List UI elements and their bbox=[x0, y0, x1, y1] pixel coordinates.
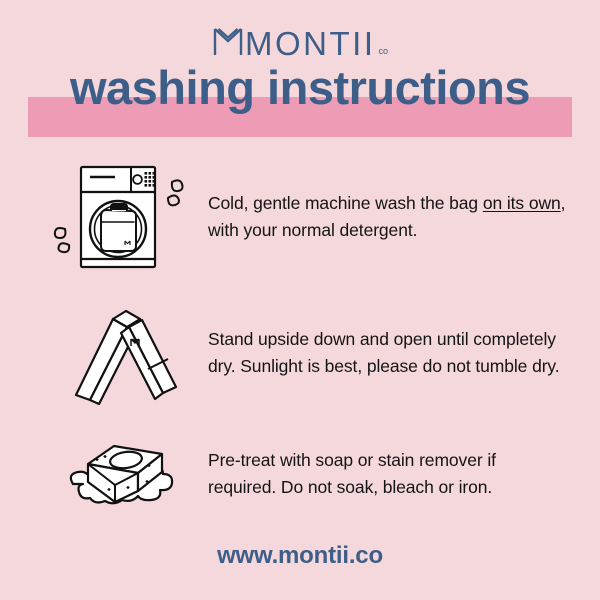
instruction-text-part: Stand upside down and open until complet… bbox=[208, 329, 560, 376]
upside-down-open-bag-icon bbox=[43, 297, 193, 409]
instruction-icon-cell bbox=[28, 297, 208, 409]
instruction-row: Pre-treat with soap or stain remover if … bbox=[28, 424, 572, 524]
brand-suffix: co bbox=[378, 47, 388, 56]
instruction-icon-cell bbox=[28, 428, 208, 520]
washing-machine-icon bbox=[43, 156, 193, 278]
washing-instructions-card: MONTII co washing instructions bbox=[0, 0, 600, 600]
instruction-text: Cold, gentle machine wash the bag on its… bbox=[208, 190, 572, 243]
instruction-text: Stand upside down and open until complet… bbox=[208, 326, 572, 379]
instruction-row: Cold, gentle machine wash the bag on its… bbox=[28, 152, 572, 282]
instruction-row: Stand upside down and open until complet… bbox=[28, 292, 572, 414]
instruction-text-part: Pre-treat with soap or stain remover if … bbox=[208, 450, 496, 497]
soap-bar-icon bbox=[43, 428, 193, 520]
logo-lockup: MONTII co bbox=[213, 25, 387, 59]
instruction-text-part: Cold, gentle machine wash the bag bbox=[208, 193, 483, 213]
instruction-icon-cell bbox=[28, 156, 208, 278]
instruction-text: Pre-treat with soap or stain remover if … bbox=[208, 447, 572, 500]
footer-website-url[interactable]: www.montii.co bbox=[0, 542, 600, 570]
brand-wordmark: MONTII bbox=[245, 27, 375, 60]
brand-logo: MONTII co bbox=[0, 18, 600, 66]
page-title: washing instructions bbox=[0, 64, 600, 111]
montii-m-chevron-logo-icon bbox=[213, 25, 243, 59]
instruction-text-emphasis: on its own bbox=[483, 193, 561, 213]
